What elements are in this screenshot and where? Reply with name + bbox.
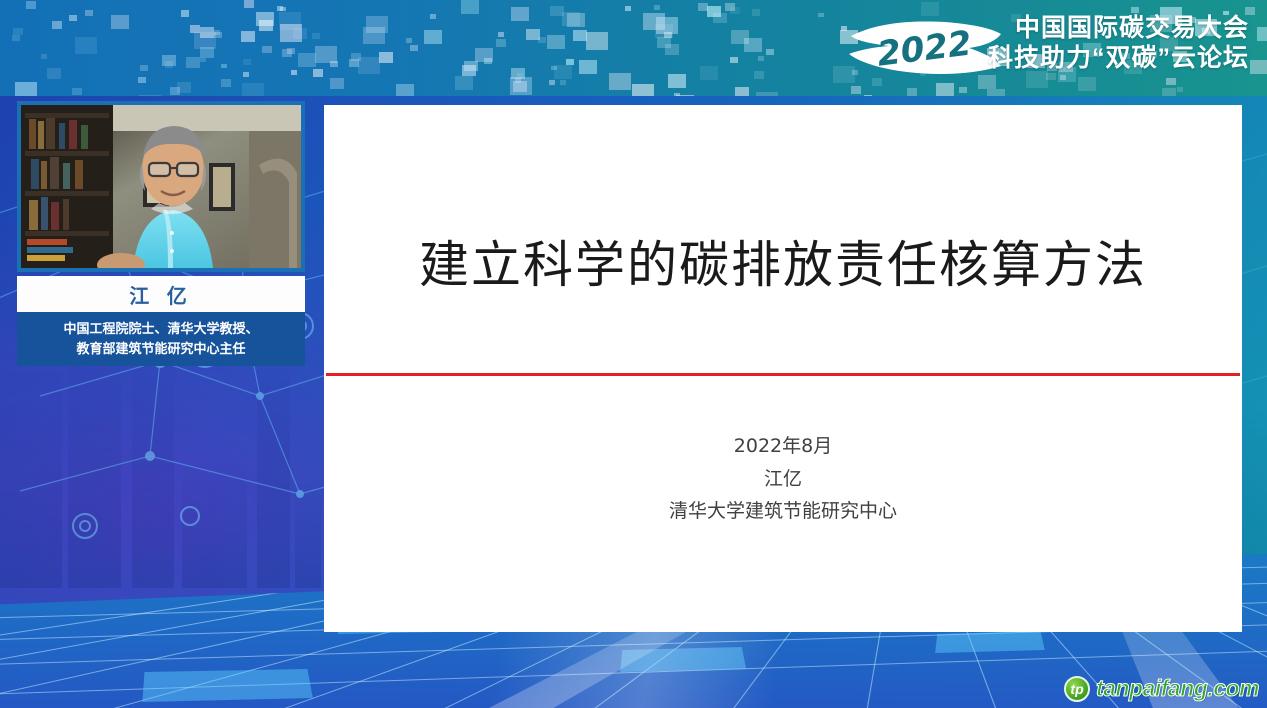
slide-title-rule [326,373,1240,376]
speaker-titleplate: 中国工程院院士、清华大学教授、 教育部建筑节能研究中心主任 [17,312,305,366]
slide-title: 建立科学的碳排放责任核算方法 [324,225,1242,297]
event-header-banner: 2022 中国国际碳交易大会 科技助力“双碳”云论坛 [0,0,1267,96]
slide-subtitle-affiliation: 清华大学建筑节能研究中心 [324,495,1242,528]
presentation-slide[interactable]: 建立科学的碳排放责任核算方法 2022年8月 江亿 清华大学建筑节能研究中心 [324,105,1242,632]
year-brush-logo: 2022 [845,14,1005,80]
slide-subtitle-date: 2022年8月 [324,430,1242,463]
speaker-video-feed[interactable] [21,105,301,268]
speaker-video-panel[interactable] [17,101,305,272]
conference-title-line2: 科技助力“双碳”云论坛 [988,44,1249,74]
slide-subtitle-author: 江亿 [324,463,1242,496]
speaker-nameplate: 江 亿 [17,276,305,312]
speaker-name: 江 亿 [129,280,193,309]
site-watermark: tp tanpaifang.com [1064,675,1259,702]
slide-subtitle-block: 2022年8月 江亿 清华大学建筑节能研究中心 [324,430,1242,528]
tanpaifang-logo-icon: tp [1064,676,1090,702]
conference-title-block: 中国国际碳交易大会 科技助力“双碳”云论坛 [988,14,1249,73]
speaker-title-line1: 中国工程院院士、清华大学教授、 [63,319,258,339]
watermark-text: tanpaifang.com [1096,675,1259,702]
presentation-screen: 2022 中国国际碳交易大会 科技助力“双碳”云论坛 [0,0,1267,708]
speaker-title-line2: 教育部建筑节能研究中心主任 [76,339,245,359]
conference-title-line1: 中国国际碳交易大会 [988,14,1249,44]
